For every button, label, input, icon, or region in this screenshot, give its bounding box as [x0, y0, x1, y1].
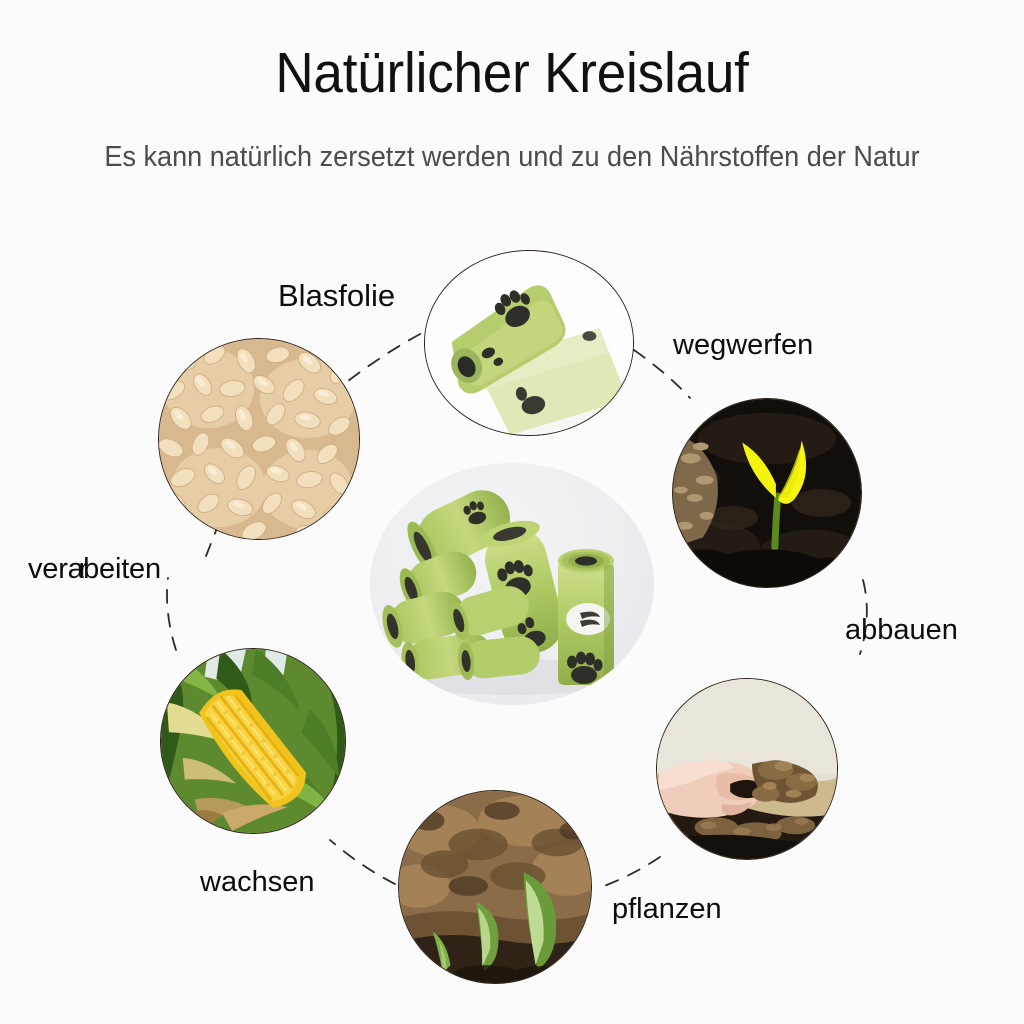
- hands-soil-icon: [657, 679, 837, 859]
- label-process-part-c: beiten: [83, 555, 161, 584]
- page-title: Natürlicher Kreislauf: [36, 42, 988, 105]
- connector-grow-to-process: [167, 578, 176, 650]
- label-blown-film: Blasfolie: [278, 280, 395, 311]
- label-degrade: abbauen: [845, 616, 958, 645]
- film-roll-icon: [425, 251, 633, 435]
- label-process-part-a: vera: [28, 553, 84, 585]
- connector-plant-to-grow: [330, 840, 395, 884]
- bio-pellets-icon: [159, 339, 359, 539]
- label-process: verarbeiten: [28, 555, 161, 584]
- node-plant[interactable]: [398, 790, 592, 984]
- label-grow: wachsen: [200, 868, 314, 897]
- node-grow[interactable]: [160, 648, 346, 834]
- connector-degrade-to-plant: [596, 857, 660, 889]
- node-blown-film[interactable]: [424, 250, 634, 436]
- node-process[interactable]: [158, 338, 360, 540]
- label-plant: pflanzen: [612, 895, 722, 924]
- infographic-canvas: Natürlicher Kreislauf Es kann natürlich …: [0, 0, 1024, 1024]
- sprouts-soil-icon: [399, 791, 591, 983]
- center-product-image[interactable]: [370, 463, 654, 705]
- corn-field-icon: [161, 649, 345, 833]
- page-subtitle: Es kann natürlich zersetzt werden und zu…: [26, 140, 999, 174]
- label-dispose: wegwerfen: [673, 331, 813, 360]
- bag-rolls-icon: [370, 463, 654, 705]
- seedling-dark-soil-icon: [673, 399, 861, 587]
- node-dispose[interactable]: [672, 398, 862, 588]
- node-degrade[interactable]: [656, 678, 838, 860]
